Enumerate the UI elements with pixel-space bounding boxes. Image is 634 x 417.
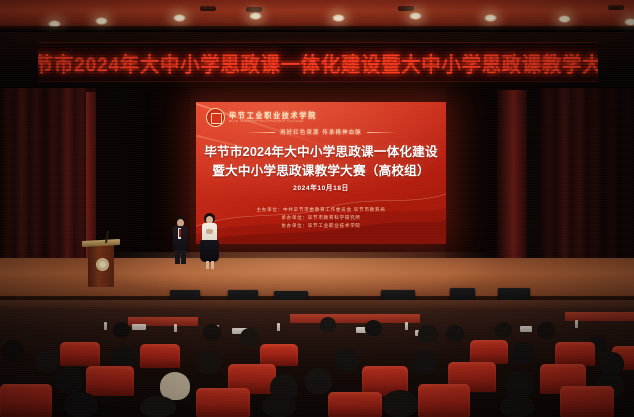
screen-organizers: 主办单位：中共毕节市委教育工作委员会 毕节市教育局 承办单位：毕节市教育科学研究…: [196, 206, 446, 230]
audience-area: [0, 300, 634, 417]
audience-head: [2, 340, 24, 361]
host-female-leg: [206, 261, 209, 269]
theater-seat: [560, 386, 614, 417]
water-bottle: [104, 322, 107, 330]
audience-head: [335, 348, 359, 371]
theater-seat: [0, 384, 52, 417]
screen-title-line-2: 暨大中小学思政课教学大赛（高校组）: [196, 162, 446, 181]
theater-seat: [60, 342, 100, 366]
organizer-line: 承办单位：毕节市教育科学研究所: [196, 214, 446, 222]
audience-head: [505, 370, 534, 398]
screen-institution-logo: 毕节工业职业技术学院 BIJIE INDUSTRY POLYTECHNIC CO…: [206, 108, 317, 127]
audience-head: [446, 325, 464, 342]
stage-curtain-middle-right: [497, 90, 527, 268]
audience-head: [305, 368, 332, 394]
host-female-leg: [211, 261, 214, 269]
audience-head: [35, 350, 59, 372]
audience-head: [495, 322, 512, 338]
audience-head: [140, 396, 176, 417]
ceiling-spotlight-icon: [624, 18, 634, 26]
screen-tagline: 用好红色资源 传承精神血脉: [196, 128, 446, 136]
auditorium-scene: 毕节市2024年大中小学思政课一体化建设暨大中小学思政课教学大赛 毕节工业职业技…: [0, 0, 634, 417]
stage-curtain-right: [540, 88, 634, 270]
college-emblem-icon: [96, 258, 109, 271]
theater-seat: [418, 384, 470, 417]
institution-name-en: BIJIE INDUSTRY POLYTECHNIC COLLEGE: [229, 120, 317, 123]
document-paper: [520, 326, 532, 332]
screen-event-date: 2024年10月18日: [196, 182, 446, 192]
water-bottle: [405, 322, 408, 330]
theater-seat: [555, 342, 595, 366]
audience-head: [382, 390, 418, 417]
audience-head: [418, 325, 438, 343]
organizer-line: 主办单位：中共毕节市委教育工作委员会 毕节市教育局: [196, 206, 446, 214]
theater-seat: [196, 388, 250, 417]
audience-head: [64, 392, 98, 417]
tagline-rule-left: [245, 132, 275, 133]
ceiling-fixture-icon: [398, 6, 414, 11]
led-banner-text: 毕节市2024年大中小学思政课一体化建设暨大中小学思政课教学大赛: [38, 47, 598, 77]
audience-head: [196, 350, 221, 374]
water-bottle: [277, 323, 280, 331]
theater-seat: [470, 340, 508, 364]
ceiling-spotlight-icon: [173, 14, 186, 22]
host-male-leg: [181, 250, 186, 264]
audience-head: [365, 320, 382, 336]
organizer-line: 协办单位：毕节工业职业技术学院: [196, 222, 446, 230]
screen-title: 毕节市2024年大中小学思政课一体化建设 暨大中小学思政课教学大赛（高校组）: [196, 143, 446, 181]
ceiling-spotlight-icon: [95, 17, 108, 25]
ceiling-spotlight-icon: [409, 12, 422, 20]
front-table: [290, 314, 420, 323]
theater-seat: [260, 344, 298, 366]
audience-head: [320, 317, 336, 332]
theater-seat: [140, 344, 180, 368]
audience-head: [412, 350, 437, 374]
led-banner: 毕节市2024年大中小学思政课一体化建设暨大中小学思政课教学大赛: [38, 42, 598, 82]
ceiling-fixture-icon: [200, 6, 216, 11]
host-male-tie: [179, 229, 181, 237]
college-seal-icon: [206, 108, 225, 127]
ceiling-spotlight-icon: [484, 14, 497, 22]
audience-head: [512, 342, 535, 364]
screen-title-line-1: 毕节市2024年大中小学思政课一体化建设: [196, 143, 446, 162]
audience-head: [500, 395, 534, 417]
ceiling-spotlight-icon: [558, 15, 571, 23]
institution-name-cn: 毕节工业职业技术学院: [229, 112, 317, 119]
audience-head: [55, 366, 83, 393]
tagline-text: 用好红色资源 传承精神血脉: [280, 128, 362, 136]
host-female-hands: [206, 229, 213, 234]
audience-head: [537, 322, 555, 339]
tagline-rule-right: [367, 132, 397, 133]
document-paper: [132, 324, 146, 330]
ceiling-spotlight-icon: [249, 12, 262, 20]
water-bottle: [575, 320, 578, 328]
audience-head: [203, 324, 221, 341]
audience-head: [262, 394, 296, 417]
audience-head: [113, 322, 130, 338]
water-bottle: [174, 324, 177, 332]
stage-wing-right: [446, 88, 501, 270]
audience-back-wall: [0, 300, 634, 310]
audience-head: [240, 328, 259, 347]
theater-seat: [86, 366, 134, 396]
host-male-leg: [175, 250, 180, 264]
ceiling-fixture-icon: [608, 5, 624, 10]
projection-screen: 毕节工业职业技术学院 BIJIE INDUSTRY POLYTECHNIC CO…: [196, 102, 446, 244]
ceiling-spotlight-icon: [332, 14, 345, 22]
theater-seat: [328, 392, 382, 417]
host-female-skirt: [200, 240, 219, 262]
